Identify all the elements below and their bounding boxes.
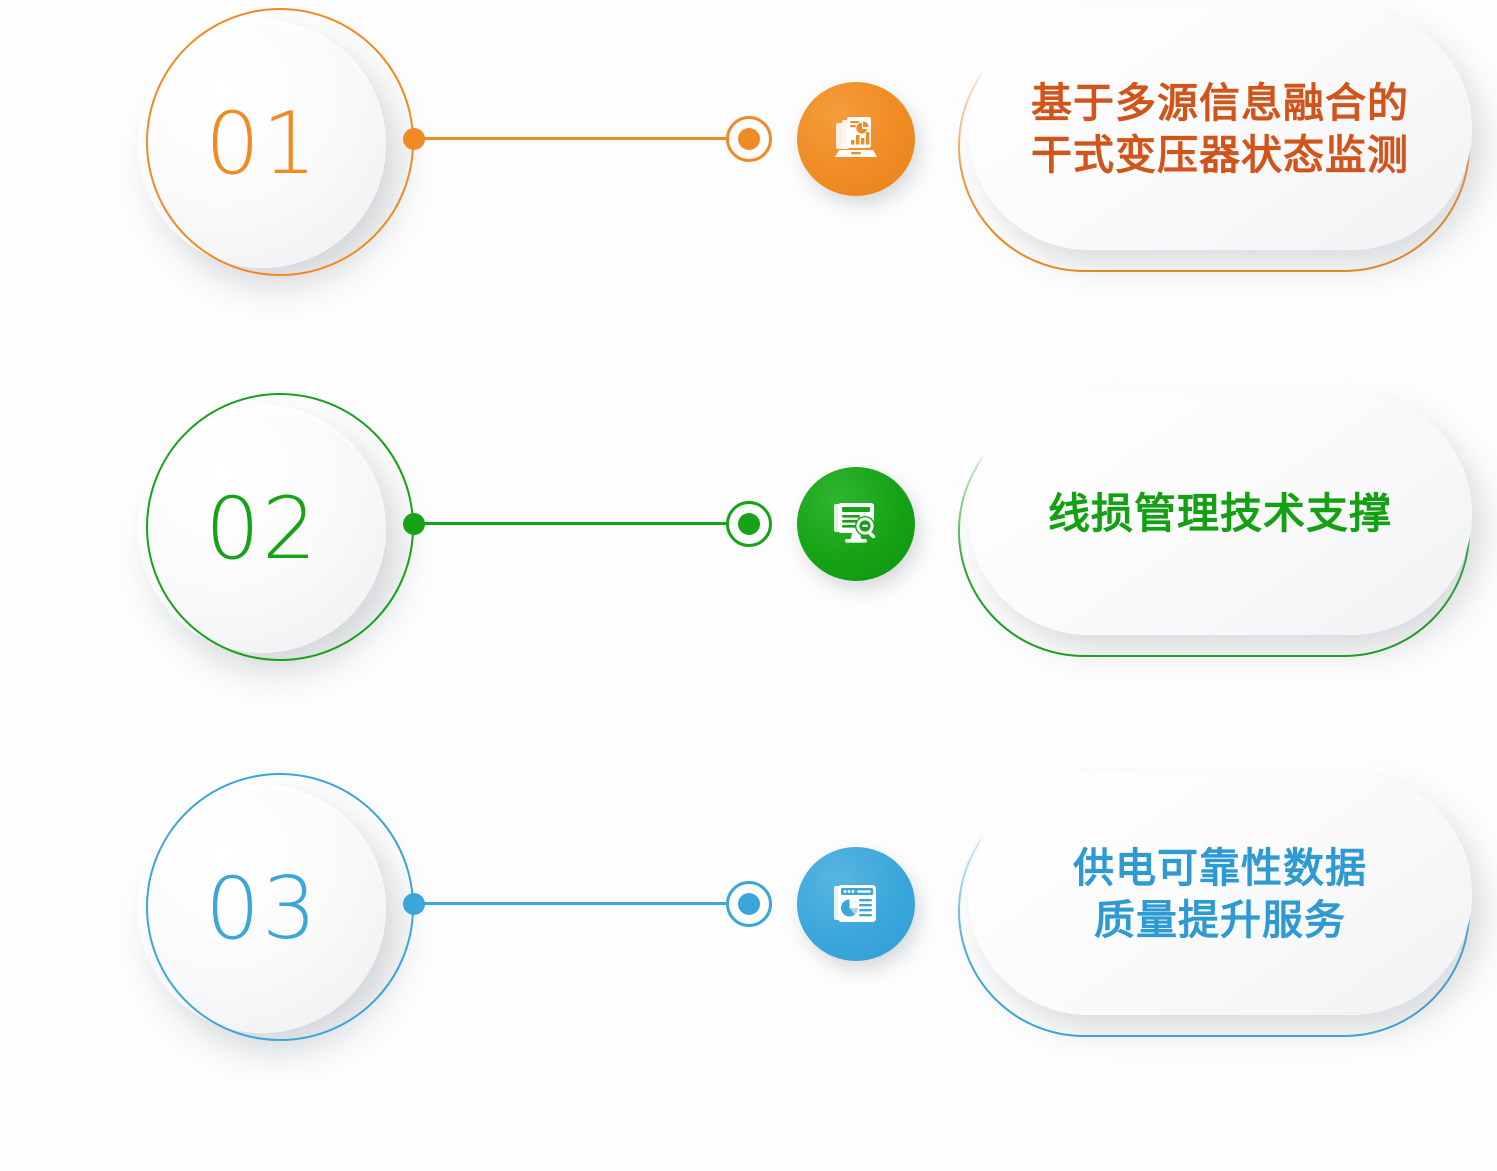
step-title-text: 线损管理技术支撑	[1022, 487, 1418, 541]
step-title-text: 基于多源信息融合的 干式变压器状态监测	[1005, 77, 1435, 182]
step-row-02: 02	[0, 385, 1497, 675]
step-number-circle-03[interactable]: 03	[138, 773, 424, 1049]
step-row-01: 01	[0, 0, 1497, 290]
pill-face: 基于多源信息融合的 干式变压器状态监测	[968, 8, 1472, 250]
step-row-03: 03	[0, 765, 1497, 1055]
connector-line	[414, 902, 739, 905]
connector-end-ring	[726, 881, 772, 927]
step-number-label: 03	[138, 785, 386, 1033]
infographic-canvas: 01	[0, 0, 1497, 1171]
connector-end-ring	[726, 116, 772, 162]
report-laptop-chart-icon[interactable]	[797, 82, 915, 196]
connector-end-ring	[726, 501, 772, 547]
monitor-magnifier-icon[interactable]	[797, 467, 915, 581]
step-title-pill-02[interactable]: 线损管理技术支撑	[958, 393, 1480, 665]
step-number-label: 01	[138, 20, 386, 268]
step-title-pill-03[interactable]: 供电可靠性数据 质量提升服务	[958, 773, 1480, 1045]
step-number-circle-01[interactable]: 01	[138, 8, 424, 284]
connector-line	[414, 137, 739, 140]
pill-face: 供电可靠性数据 质量提升服务	[968, 773, 1472, 1015]
step-number-circle-02[interactable]: 02	[138, 393, 424, 669]
browser-pie-chart-icon[interactable]	[797, 847, 915, 961]
step-title-text: 供电可靠性数据 质量提升服务	[1047, 842, 1393, 947]
connector-line	[414, 522, 739, 525]
pill-face: 线损管理技术支撑	[968, 393, 1472, 635]
step-title-pill-01[interactable]: 基于多源信息融合的 干式变压器状态监测	[958, 8, 1480, 280]
step-number-label: 02	[138, 405, 386, 653]
